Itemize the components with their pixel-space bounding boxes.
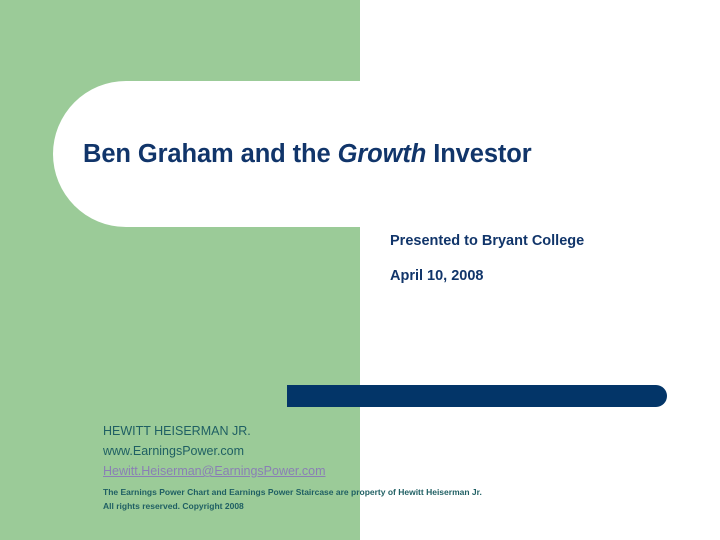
- title-text-trailing: Investor: [426, 140, 531, 168]
- slide-canvas: Ben Graham and the Growth Investor Prese…: [0, 0, 720, 540]
- contact-information: HEWITT HEISERMAN JR. www.EarningsPower.c…: [103, 421, 683, 513]
- email-link[interactable]: Hewitt.Heiserman@EarningsPower.com: [103, 461, 683, 481]
- title-text-emphasis: Growth: [338, 140, 427, 168]
- fineprint-line-2: All rights reserved. Copyright 2008: [103, 499, 683, 513]
- presented-venue: Presented to Bryant College: [390, 232, 690, 251]
- slide-title: Ben Graham and the Growth Investor: [83, 139, 683, 169]
- fineprint-line-1: The Earnings Power Chart and Earnings Po…: [103, 485, 683, 499]
- presented-date: April 10, 2008: [390, 267, 690, 286]
- author-name: HEWITT HEISERMAN JR.: [103, 421, 683, 441]
- website-text: www.EarningsPower.com: [103, 441, 683, 461]
- fineprint-block: The Earnings Power Chart and Earnings Po…: [103, 485, 683, 513]
- title-text-leading: Ben Graham and the: [83, 140, 338, 168]
- presentation-details: Presented to Bryant College April 10, 20…: [390, 232, 690, 286]
- navy-accent-bar: [287, 385, 667, 407]
